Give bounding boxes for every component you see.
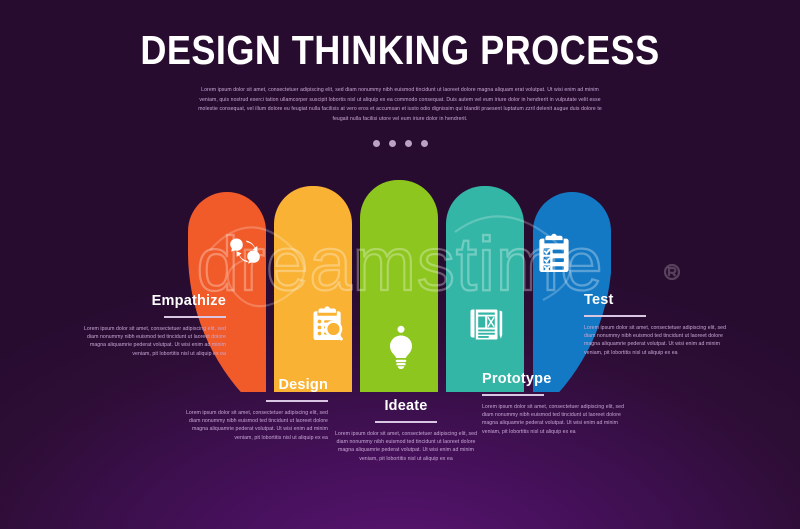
separator-dot xyxy=(405,140,412,147)
label-underline xyxy=(164,316,226,318)
step-body-test: Lorem ipsum dolor sit amet, consectetuer… xyxy=(584,324,736,358)
petal-ideate[interactable] xyxy=(360,180,438,392)
label-underline xyxy=(584,315,646,317)
infographic-canvas: DESIGN THINKING PROCESS Lorem ipsum dolo… xyxy=(0,0,800,529)
page-subtitle: Lorem ipsum dolor sit amet, consectetuer… xyxy=(194,86,606,124)
step-body-empathize: Lorem ipsum dolor sit amet, consectetuer… xyxy=(74,325,226,359)
separator-dot xyxy=(389,140,396,147)
step-label-empathize: Empathize xyxy=(74,294,226,310)
page-title: DESIGN THINKING PROCESS xyxy=(48,27,752,74)
step-label-design: Design xyxy=(176,378,328,394)
step-body-design: Lorem ipsum dolor sit amet, consectetuer… xyxy=(176,409,328,443)
step-block-empathize[interactable]: Empathize Lorem ipsum dolor sit amet, co… xyxy=(74,294,226,358)
step-label-test: Test xyxy=(584,293,736,309)
label-underline xyxy=(375,421,437,423)
step-block-prototype[interactable]: Prototype Lorem ipsum dolor sit amet, co… xyxy=(482,372,634,436)
step-label-prototype: Prototype xyxy=(482,372,634,388)
label-underline xyxy=(482,394,544,396)
separator-dot xyxy=(373,140,380,147)
step-block-ideate[interactable]: Ideate Lorem ipsum dolor sit amet, conse… xyxy=(330,399,482,463)
step-block-design[interactable]: Design Lorem ipsum dolor sit amet, conse… xyxy=(176,378,328,442)
step-body-ideate: Lorem ipsum dolor sit amet, consectetuer… xyxy=(330,430,482,464)
step-label-ideate: Ideate xyxy=(330,399,482,415)
step-block-test[interactable]: Test Lorem ipsum dolor sit amet, consect… xyxy=(584,293,736,357)
petal-diagram xyxy=(188,180,612,392)
separator-dot xyxy=(421,140,428,147)
petal-empathize[interactable] xyxy=(188,192,266,392)
label-underline xyxy=(266,400,328,402)
step-body-prototype: Lorem ipsum dolor sit amet, consectetuer… xyxy=(482,403,634,437)
petal-design[interactable] xyxy=(274,186,352,392)
dot-separator xyxy=(0,140,800,147)
petal-prototype[interactable] xyxy=(446,186,524,392)
